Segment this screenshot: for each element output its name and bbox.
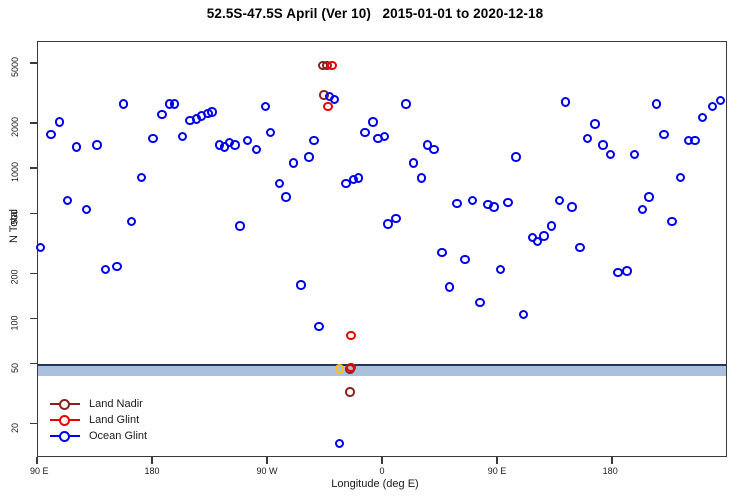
- data-point: [170, 99, 180, 109]
- data-point: [547, 221, 557, 231]
- data-point: [575, 243, 585, 253]
- data-point: [46, 130, 56, 140]
- data-point: [555, 196, 565, 206]
- data-point: [304, 152, 314, 162]
- y-tick: [30, 423, 37, 424]
- y-tick-label: 2000: [2, 117, 28, 129]
- data-point: [567, 202, 577, 212]
- data-point: [452, 199, 462, 209]
- data-point: [178, 132, 188, 142]
- y-tick-label: 1000: [2, 162, 28, 174]
- x-tick-label: 180: [603, 466, 618, 476]
- data-point: [380, 132, 390, 142]
- data-point: [72, 142, 82, 152]
- data-point: [606, 150, 616, 160]
- data-point: [583, 134, 593, 144]
- data-point: [82, 205, 92, 215]
- data-point: [281, 192, 291, 202]
- threshold-band-fill: [38, 365, 726, 376]
- data-point: [360, 128, 370, 138]
- y-tick-label: 100: [2, 313, 28, 325]
- data-point: [690, 136, 700, 146]
- x-tick-label: 180: [144, 466, 159, 476]
- y-tick: [30, 273, 37, 274]
- data-point: [335, 364, 345, 374]
- data-point: [489, 202, 499, 212]
- x-tick: [36, 457, 37, 464]
- y-tick-label: 50: [2, 358, 28, 370]
- data-point: [55, 117, 65, 127]
- data-point: [475, 298, 485, 308]
- data-point: [36, 243, 46, 253]
- data-point: [716, 96, 726, 106]
- data-point: [460, 255, 470, 265]
- data-point: [137, 173, 147, 183]
- y-tick: [30, 318, 37, 319]
- data-point: [335, 439, 345, 449]
- data-point: [230, 140, 240, 150]
- data-point: [148, 134, 158, 144]
- data-point: [261, 102, 271, 112]
- data-point: [354, 173, 364, 183]
- y-tick: [30, 122, 37, 123]
- data-point: [314, 322, 324, 332]
- y-tick-label: 5000: [2, 57, 28, 69]
- data-point: [630, 150, 640, 160]
- data-point: [235, 221, 245, 231]
- data-point: [252, 145, 262, 155]
- plot-area: [37, 41, 727, 457]
- data-point: [309, 136, 319, 146]
- y-tick-label: 200: [2, 267, 28, 279]
- data-point: [503, 198, 513, 208]
- threshold-line: [38, 364, 726, 366]
- chart-legend: Land NadirLand GlintOcean Glint: [50, 396, 240, 444]
- data-point: [659, 130, 669, 140]
- data-point: [92, 140, 102, 150]
- chart-figure: 52.5S-47.5S April (Ver 10) 2015-01-01 to…: [0, 0, 750, 500]
- data-point: [119, 99, 129, 109]
- data-point: [708, 102, 718, 112]
- data-point: [437, 248, 447, 258]
- data-point: [157, 110, 167, 120]
- data-point: [429, 145, 439, 155]
- legend-marker-icon: [50, 429, 80, 443]
- x-tick-label: 90 W: [256, 466, 277, 476]
- data-point: [275, 179, 285, 189]
- data-point: [644, 192, 654, 202]
- data-point: [667, 217, 677, 227]
- y-tick-label: 500: [2, 207, 28, 219]
- x-tick: [151, 457, 152, 464]
- legend-marker-icon: [50, 413, 80, 427]
- data-point: [417, 173, 427, 183]
- data-point: [101, 265, 111, 275]
- y-tick-label: 20: [2, 418, 28, 430]
- data-point: [330, 95, 340, 105]
- data-point: [445, 282, 455, 292]
- data-point: [346, 363, 356, 373]
- data-point: [409, 158, 419, 168]
- y-tick: [30, 213, 37, 214]
- data-point: [698, 113, 708, 123]
- y-tick: [30, 363, 37, 364]
- x-tick-label: 90 E: [30, 466, 49, 476]
- x-axis-label: Longitude (deg E): [0, 478, 750, 490]
- data-point: [296, 280, 306, 290]
- data-point: [561, 97, 571, 107]
- legend-item: Ocean Glint: [50, 428, 240, 444]
- data-point: [652, 99, 662, 109]
- data-point: [598, 140, 608, 150]
- data-point: [345, 387, 355, 397]
- chart-title: 52.5S-47.5S April (Ver 10) 2015-01-01 to…: [0, 6, 750, 21]
- data-point: [368, 117, 378, 127]
- data-point: [63, 196, 73, 206]
- y-tick: [30, 167, 37, 168]
- x-tick: [496, 457, 497, 464]
- data-point: [243, 136, 253, 146]
- data-point: [327, 61, 337, 71]
- data-point: [622, 266, 632, 276]
- legend-label: Land Nadir: [89, 398, 143, 410]
- legend-marker-icon: [50, 397, 80, 411]
- data-point: [519, 310, 529, 320]
- x-tick: [381, 457, 382, 464]
- data-point: [346, 331, 356, 341]
- data-point: [112, 262, 122, 272]
- x-tick-label: 0: [379, 466, 384, 476]
- data-point: [539, 231, 549, 241]
- data-point: [266, 128, 276, 138]
- legend-item: Land Glint: [50, 412, 240, 428]
- x-tick: [266, 457, 267, 464]
- data-point: [590, 119, 600, 129]
- x-tick-label: 90 E: [488, 466, 507, 476]
- legend-item: Land Nadir: [50, 396, 240, 412]
- data-point: [289, 158, 299, 168]
- y-tick: [30, 62, 37, 63]
- data-point: [468, 196, 478, 206]
- data-point: [127, 217, 137, 227]
- data-point: [638, 205, 648, 215]
- data-point: [676, 173, 686, 183]
- data-point: [511, 152, 521, 162]
- legend-label: Ocean Glint: [89, 430, 147, 442]
- x-tick: [611, 457, 612, 464]
- data-point: [401, 99, 411, 109]
- data-point: [496, 265, 506, 275]
- data-point: [391, 214, 401, 224]
- legend-label: Land Glint: [89, 414, 139, 426]
- data-point: [207, 107, 217, 117]
